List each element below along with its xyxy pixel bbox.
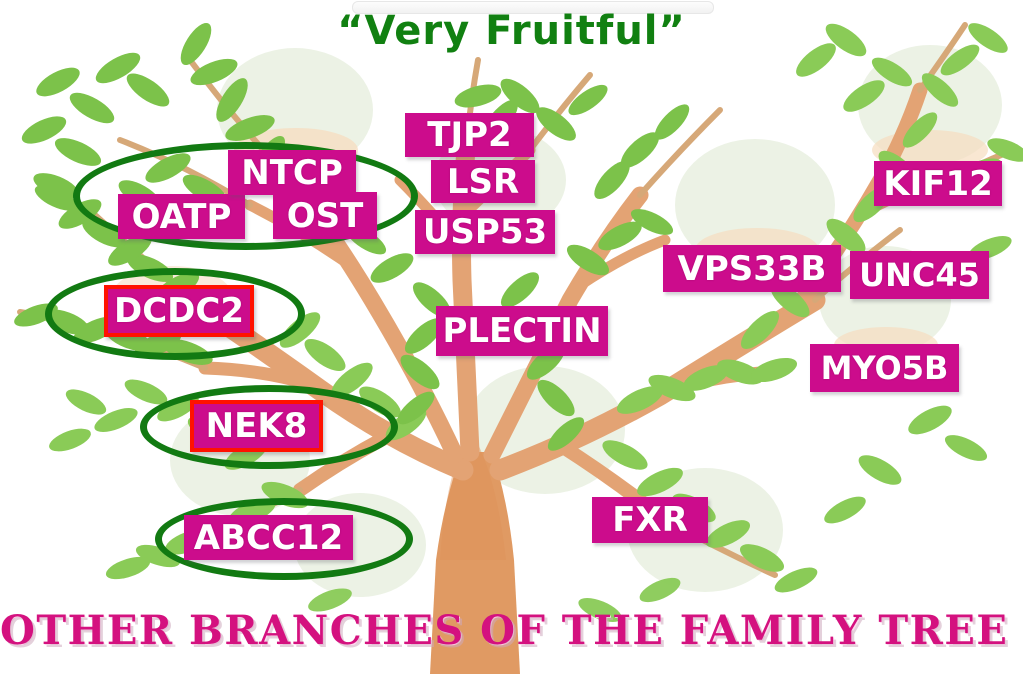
gene-label-fxr[interactable]: FXR [592, 497, 708, 543]
gene-label-plectin[interactable]: PLECTIN [436, 306, 608, 356]
gene-label-unc45[interactable]: UNC45 [850, 251, 989, 299]
slide-headline: “Very Fruitful” [0, 8, 1023, 54]
gene-label-kif12[interactable]: KIF12 [874, 161, 1002, 206]
slide-caption: OTHER BRANCHES OF THE FAMILY TREE ? [0, 607, 1023, 654]
gene-label-nek8[interactable]: NEK8 [190, 400, 323, 452]
gene-label-abcc12[interactable]: ABCC12 [184, 515, 353, 560]
gene-label-usp53[interactable]: USP53 [415, 210, 555, 254]
gene-label-ost[interactable]: OST [273, 192, 377, 239]
gene-label-vps33b[interactable]: VPS33B [663, 245, 841, 292]
slide-canvas: “Very Fruitful” OATPNTCPOSTTJP2LSRUSP53D… [0, 0, 1023, 674]
gene-label-tjp2[interactable]: TJP2 [405, 113, 534, 157]
gene-label-lsr[interactable]: LSR [431, 160, 535, 203]
gene-label-oatp[interactable]: OATP [118, 194, 245, 239]
gene-label-myo5b[interactable]: MYO5B [810, 344, 959, 392]
gene-label-ntcp[interactable]: NTCP [228, 150, 356, 195]
gene-label-dcdc2[interactable]: DCDC2 [104, 285, 254, 337]
